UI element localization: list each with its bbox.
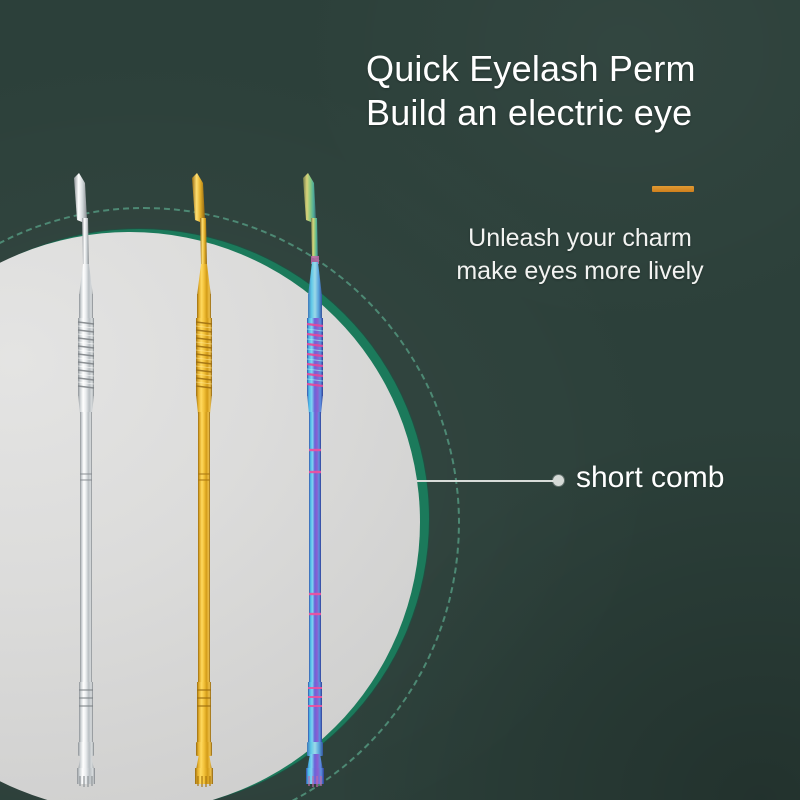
callout-dot-marker: [553, 475, 564, 486]
subtitle: Unleash your charm make eyes more lively: [380, 222, 780, 288]
short-comb-head-gold: [195, 754, 213, 787]
page-title: Quick Eyelash Perm Build an electric eye: [366, 47, 778, 135]
callout-leader-line: [417, 480, 561, 482]
subhead-line-2: make eyes more lively: [380, 255, 780, 288]
product-silver-tool: [58, 170, 122, 800]
subhead-line-1: Unleash your charm: [380, 222, 780, 255]
short-comb-head-silver: [77, 754, 95, 787]
product-rainbow-tool: [287, 170, 351, 800]
product-gold-tool: [176, 170, 240, 800]
product-poster: Quick Eyelash Perm Build an electric eye…: [0, 0, 800, 800]
headline-line-2: Build an electric eye: [366, 91, 778, 135]
accent-divider: [652, 186, 694, 192]
headline-line-1: Quick Eyelash Perm: [366, 47, 778, 91]
short-comb-head-rainbow: [306, 754, 324, 787]
callout-label-short-comb: short comb: [576, 458, 724, 498]
